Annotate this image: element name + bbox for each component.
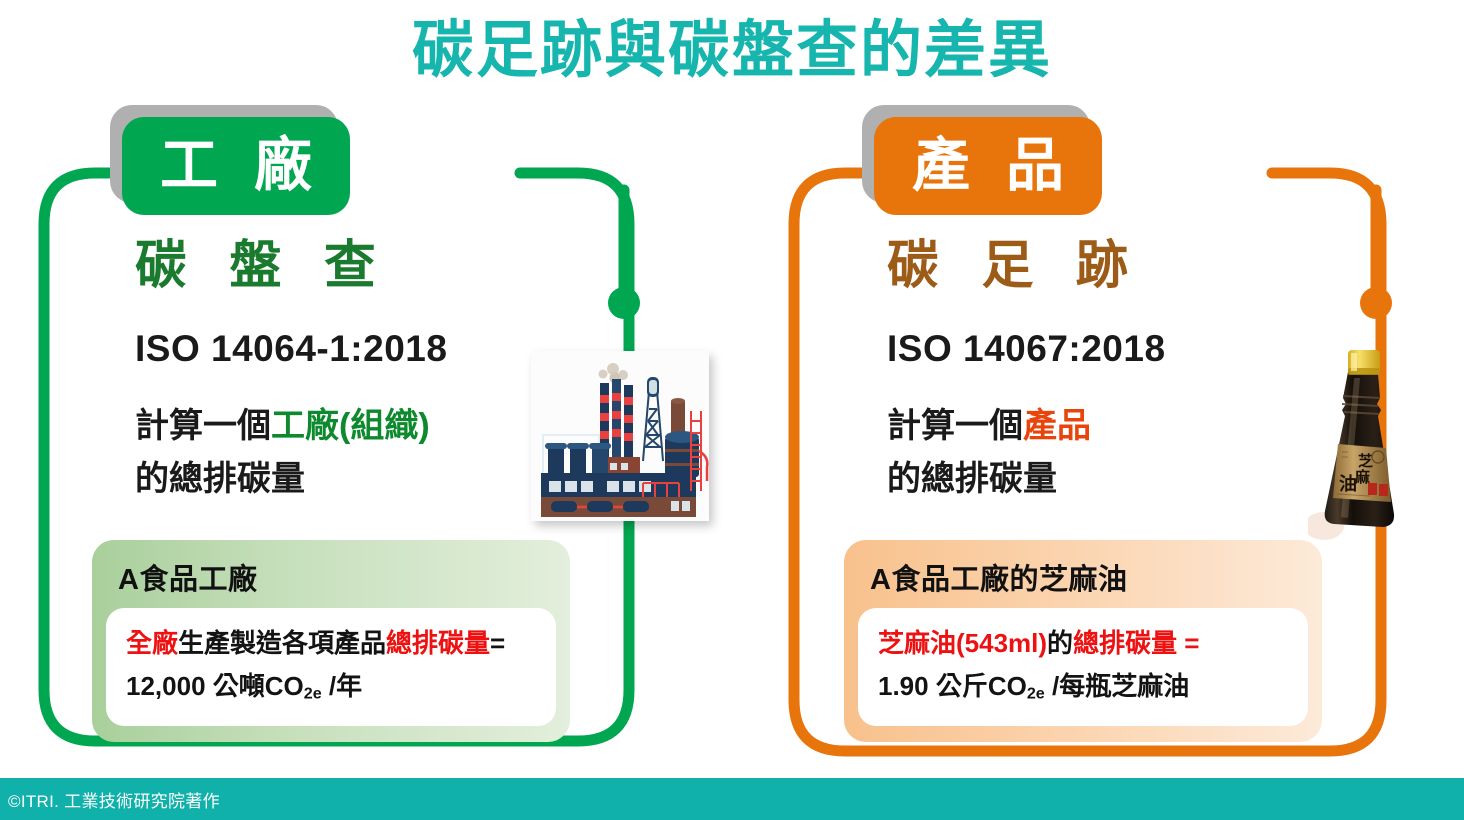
description-factory: 計算一個工廠(組織) 的總排碳量 bbox=[135, 400, 430, 505]
footer-credit: ©ITRI. 工業技術研究院著作 bbox=[0, 787, 220, 812]
callout-factory-red-a: 全廠 bbox=[126, 628, 178, 658]
sesame-oil-bottle-photo: 芝 麻 油 bbox=[1308, 338, 1404, 544]
heading-carbon-inventory: 碳 盤 查 bbox=[135, 240, 390, 292]
callout-product-black-a: 的 bbox=[1047, 628, 1073, 658]
callout-factory-title: A食品工廠 bbox=[92, 550, 570, 608]
page-title: 碳足跡與碳盤查的差異 bbox=[0, 12, 1464, 90]
callout-factory-formula: 全廠生產製造各項產品總排碳量= bbox=[126, 622, 536, 665]
description-factory-line2: 的總排碳量 bbox=[135, 453, 430, 506]
callout-product: A食品工廠的芝麻油 芝麻油(543ml)的總排碳量 = 1.90 公斤CO2e … bbox=[844, 540, 1322, 742]
callout-product-value-number: 1.90 bbox=[878, 671, 929, 701]
slide-canvas: 碳足跡與碳盤查的差異 工 廠 碳 盤 查 ISO 14064-1:2018 計算… bbox=[0, 0, 1464, 820]
badge-product[interactable]: 產 品 bbox=[874, 117, 1102, 215]
iso-standard-product: ISO 14067:2018 bbox=[887, 328, 1166, 370]
badge-product-wrap: 產 品 bbox=[862, 105, 1102, 210]
callout-product-formula: 芝麻油(543ml)的總排碳量 = bbox=[878, 622, 1288, 665]
iso-standard-factory: ISO 14064-1:2018 bbox=[135, 328, 447, 370]
callout-factory-value-unit-suffix: /年 bbox=[322, 671, 362, 701]
description-factory-line1-highlight: 工廠(組織) bbox=[271, 407, 430, 445]
description-product-line1-prefix: 計算一個 bbox=[887, 407, 1023, 445]
description-product-line1: 計算一個產品 bbox=[887, 400, 1091, 453]
description-product-line2: 的總排碳量 bbox=[887, 453, 1091, 506]
callout-factory-value: 12,000 公噸CO2e /年 bbox=[126, 665, 536, 708]
badge-factory[interactable]: 工 廠 bbox=[122, 117, 350, 215]
callout-factory: A食品工廠 全廠生產製造各項產品總排碳量= 12,000 公噸CO2e /年 bbox=[92, 540, 570, 742]
callout-product-value-unit-sub: 2e bbox=[1027, 684, 1045, 702]
description-factory-line1-prefix: 計算一個 bbox=[135, 407, 271, 445]
factory-illustration bbox=[531, 351, 709, 521]
callout-factory-body: 全廠生產製造各項產品總排碳量= 12,000 公噸CO2e /年 bbox=[106, 608, 556, 726]
callout-factory-red-b: 總排碳量 bbox=[386, 628, 490, 658]
footer-bar: ©ITRI. 工業技術研究院著作 bbox=[0, 778, 1464, 820]
callout-product-value-unit-suffix: /每瓶芝麻油 bbox=[1045, 671, 1189, 701]
callout-factory-value-unit-sub: 2e bbox=[304, 684, 322, 702]
callout-product-value: 1.90 公斤CO2e /每瓶芝麻油 bbox=[878, 665, 1288, 708]
callout-factory-value-unit-prefix: 公噸CO bbox=[206, 671, 304, 701]
callout-product-value-unit-prefix: 公斤CO bbox=[929, 671, 1027, 701]
callout-product-red-b: 總排碳量 = bbox=[1073, 628, 1199, 658]
description-factory-line1: 計算一個工廠(組織) bbox=[135, 400, 430, 453]
description-product: 計算一個產品 的總排碳量 bbox=[887, 400, 1091, 505]
callout-factory-black-b: = bbox=[490, 628, 505, 658]
badge-factory-wrap: 工 廠 bbox=[110, 105, 350, 210]
callout-factory-value-number: 12,000 bbox=[126, 671, 206, 701]
callout-product-title: A食品工廠的芝麻油 bbox=[844, 550, 1322, 608]
description-product-line1-highlight: 產品 bbox=[1023, 407, 1091, 445]
svg-text:油: 油 bbox=[1339, 473, 1357, 495]
callout-factory-black-a: 生產製造各項產品 bbox=[178, 628, 386, 658]
callout-product-red-a: 芝麻油(543ml) bbox=[878, 628, 1047, 658]
callout-product-body: 芝麻油(543ml)的總排碳量 = 1.90 公斤CO2e /每瓶芝麻油 bbox=[858, 608, 1308, 726]
heading-carbon-footprint: 碳 足 跡 bbox=[887, 240, 1142, 292]
